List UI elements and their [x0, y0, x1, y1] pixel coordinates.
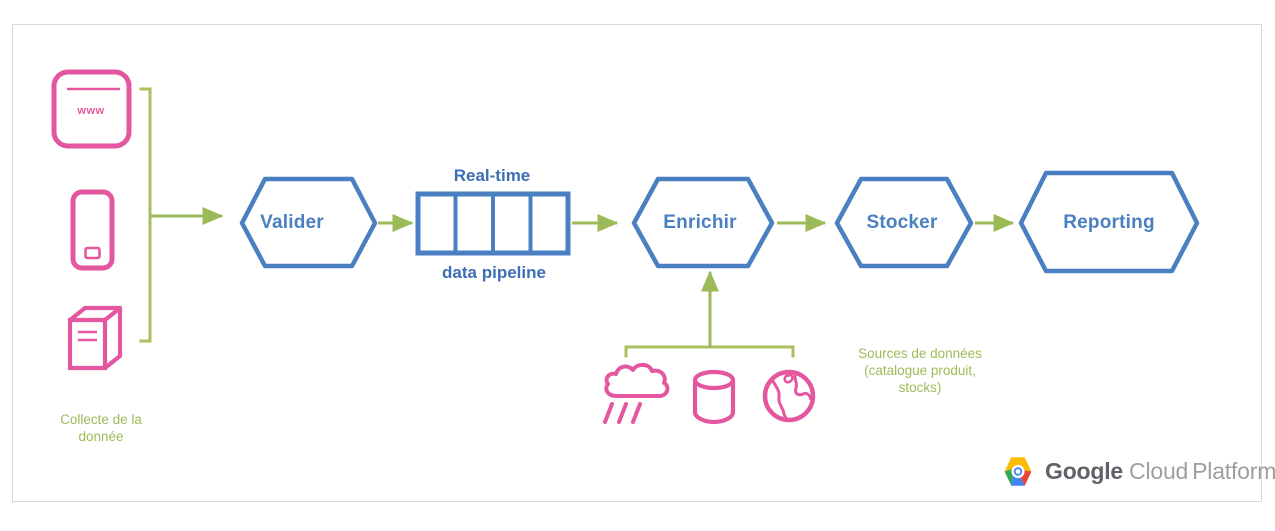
sources-caption: Collecte de la donnée: [1, 411, 201, 445]
data-sources-caption: Sources de données (catalogue produit, s…: [810, 345, 1030, 396]
hexagon-enrichir-label: Enrichir: [663, 212, 736, 234]
gcp-word-google: Google: [1045, 458, 1123, 484]
diagram-canvas: www Valider Real-time data pipeline Enri…: [0, 0, 1275, 531]
hexagon-valider-label: Valider: [260, 212, 324, 234]
google-cloud-platform-logo: GoogleCloudPlatform: [1000, 455, 1275, 488]
pipeline-label-top: Real-time: [454, 166, 531, 186]
gcp-word-platform: Platform: [1192, 458, 1275, 484]
browser-www-label: www: [77, 105, 104, 117]
gcp-hexagon-icon: [1000, 455, 1036, 488]
gcp-wordmark: GoogleCloudPlatform: [1045, 458, 1275, 485]
hexagon-stocker-label: Stocker: [866, 212, 937, 234]
hexagon-reporting-label: Reporting: [1063, 212, 1155, 234]
pipeline-label-bottom: data pipeline: [442, 263, 546, 283]
gcp-word-cloud: Cloud: [1129, 458, 1188, 484]
